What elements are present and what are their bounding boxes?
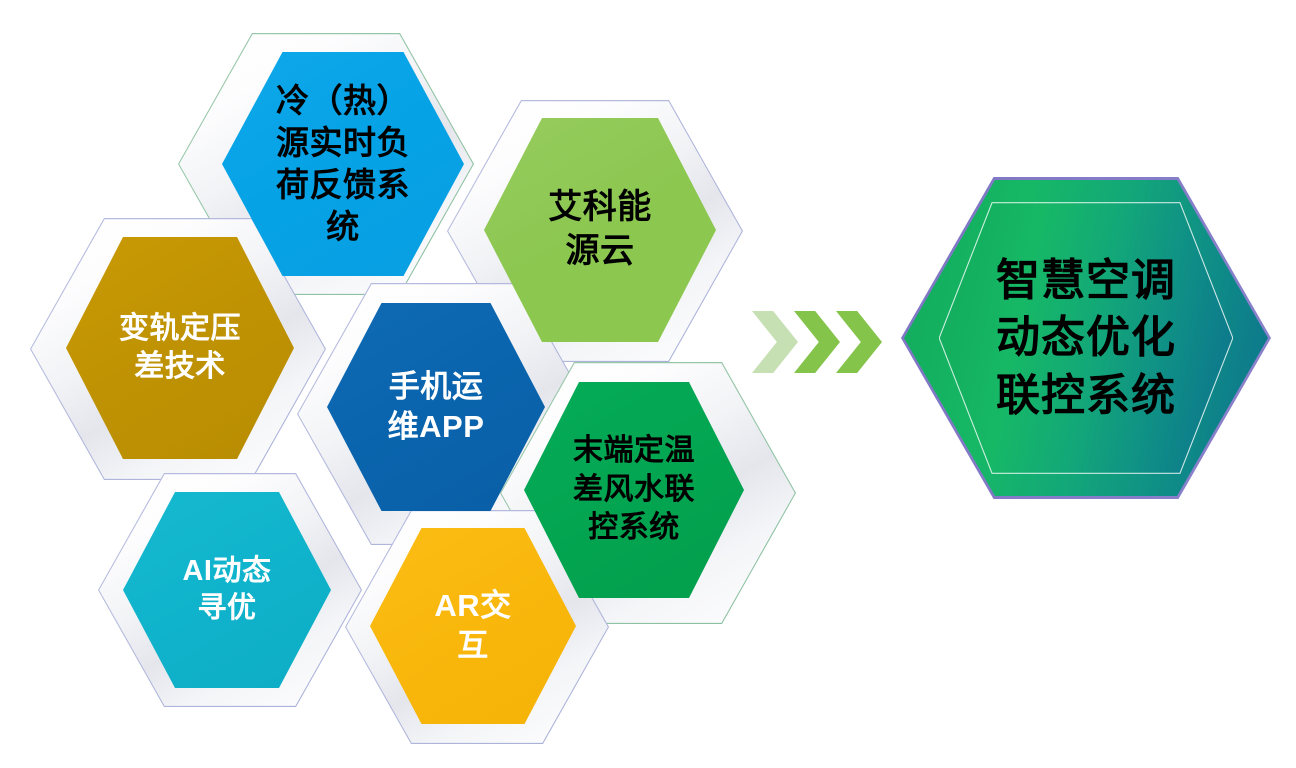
hex-label-cold-heat-source-feedback: 冷（热） 源实时负 荷反馈系 统 [270,80,416,249]
chevron-icon-1 [752,311,798,373]
hex-label-ai-dynamic-optimization: AI动态 寻优 [176,553,277,627]
hex-result-face: 智慧空调 动态优化 联控系统 [904,180,1268,496]
hex-label-result-smart-hvac-system: 智慧空调 动态优化 联控系统 [996,252,1176,424]
hex-label-aike-energy-cloud: 艾科能 源云 [542,186,658,273]
arrow-chevron-group [752,311,882,373]
diagram-canvas: 冷（热） 源实时负 荷反馈系 统 艾科能 源云 变轨定压 差技术 手机运 维AP… [0,0,1296,768]
hex-result-smart-hvac-system[interactable]: 智慧空调 动态优化 联控系统 [901,177,1271,499]
hex-label-terminal-temp-diff-control: 末端定温 差风水联 控系统 [567,432,701,547]
chevron-icon-2 [794,311,840,373]
chevron-icon-3 [836,311,882,373]
hex-label-ar-interaction: AR交 互 [428,586,517,665]
hex-label-mobile-ops-app: 手机运 维APP [382,367,491,446]
hex-label-variable-track-constant-pressure: 变轨定压 差技术 [113,310,247,387]
